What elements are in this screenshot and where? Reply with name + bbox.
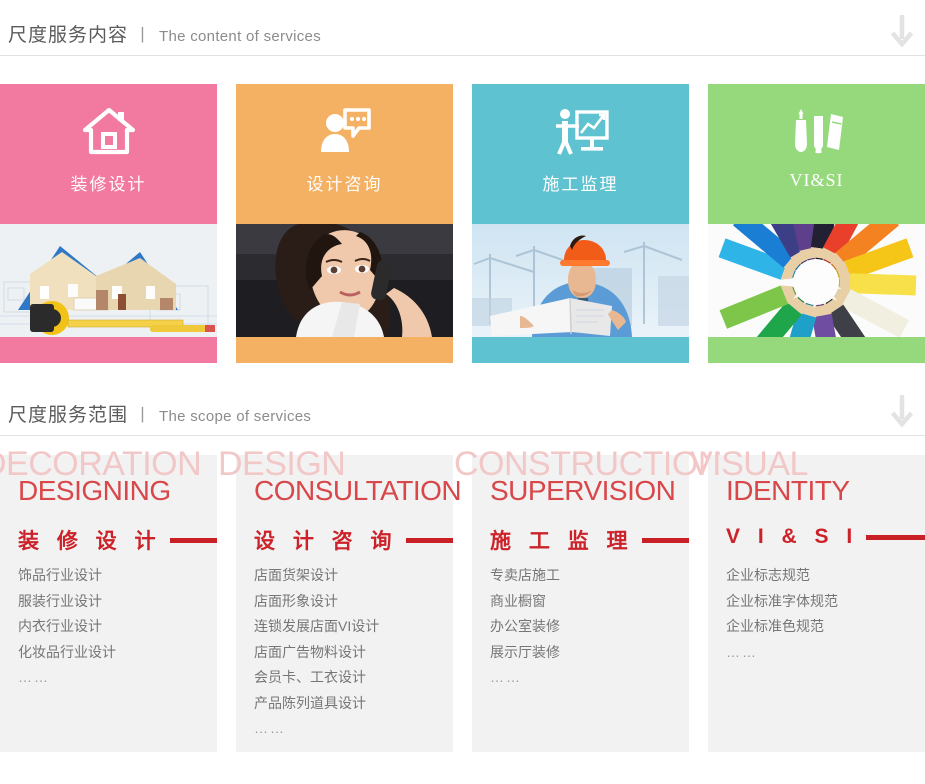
panel-title-cn: V I & S I [726, 525, 858, 549]
section-header-text-group: 尺度服务内容 丨 The content of services [8, 20, 887, 55]
panel-title-cn-row: 设 计 咨 询 [254, 525, 453, 555]
section-title-en: The content of services [159, 28, 321, 45]
panel-red-rule [406, 538, 453, 543]
card-label: 设计咨询 [307, 170, 383, 195]
card-header: 设计咨询 [236, 84, 453, 224]
list-item: 展示厅装修 [490, 640, 679, 666]
service-card-row: 装修设计 [0, 84, 925, 363]
scope-panel-consultation[interactable]: DESIGN CONSULTATION 设 计 咨 询 店面货架设计 店面形象设… [236, 455, 453, 752]
panel-item-list: 企业标志规范 企业标准字体规范 企业标准色规范 …… [726, 563, 915, 665]
service-card-decoration[interactable]: 装修设计 [0, 84, 217, 363]
panel-item-list: 饰品行业设计 服装行业设计 内衣行业设计 化妆品行业设计 …… [18, 563, 207, 691]
list-item-ellipsis: …… [490, 665, 679, 691]
list-item-ellipsis: …… [18, 665, 207, 691]
card-header: 装修设计 [0, 84, 217, 224]
list-item: 内衣行业设计 [18, 614, 207, 640]
person-chat-icon [317, 106, 373, 156]
section-title-cn: 尺度服务范围 [8, 400, 128, 427]
construction-worker-photo [472, 224, 689, 337]
scope-panel-designing[interactable]: DECORATION DESIGNING 装 修 设 计 饰品行业设计 服装行业… [0, 455, 217, 752]
panel-title-cn: 施 工 监 理 [490, 525, 634, 555]
list-item: 企业标准字体规范 [726, 589, 915, 615]
section-header-scope: 尺度服务范围 丨 The scope of services [0, 380, 925, 436]
download-arrow-icon[interactable] [887, 391, 917, 431]
pen-pencil-eraser-icon [789, 106, 845, 156]
card-label: VI&SI [790, 170, 844, 191]
panel-red-rule [642, 538, 689, 543]
section-header-content: 尺度服务内容 丨 The content of services [0, 0, 925, 56]
card-label: 施工监理 [543, 170, 619, 195]
section-header-text-group: 尺度服务范围 丨 The scope of services [8, 400, 887, 435]
scope-panel-row: DECORATION DESIGNING 装 修 设 计 饰品行业设计 服装行业… [0, 455, 925, 752]
colored-pencils-photo [708, 224, 925, 337]
list-item: 企业标准色规范 [726, 614, 915, 640]
presenter-chart-icon [553, 106, 609, 156]
section-title-separator: 丨 [134, 401, 151, 426]
house-model-blueprint-photo [0, 224, 217, 337]
service-card-supervision[interactable]: 施工监理 [472, 84, 689, 363]
download-arrow-icon[interactable] [887, 11, 917, 51]
panel-item-list: 专卖店施工 商业橱窗 办公室装修 展示厅装修 …… [490, 563, 679, 691]
list-item: 服装行业设计 [18, 589, 207, 615]
list-item-ellipsis: …… [254, 716, 443, 742]
list-item: 店面广告物料设计 [254, 640, 443, 666]
panel-title-cn: 装 修 设 计 [18, 525, 162, 555]
list-item: 办公室装修 [490, 614, 679, 640]
service-card-identity[interactable]: VI&SI [708, 84, 925, 363]
list-item: 专卖店施工 [490, 563, 679, 589]
scope-panel-supervision[interactable]: CONSTRUCTION SUPERVISION 施 工 监 理 专卖店施工 商… [472, 455, 689, 752]
list-item: 会员卡、工衣设计 [254, 665, 443, 691]
woman-on-phone-photo [236, 224, 453, 337]
list-item: 店面货架设计 [254, 563, 443, 589]
card-header: 施工监理 [472, 84, 689, 224]
list-item: 商业橱窗 [490, 589, 679, 615]
house-icon [81, 106, 137, 156]
list-item: 连锁发展店面VI设计 [254, 614, 443, 640]
panel-title-en: SUPERVISION [490, 475, 675, 507]
list-item: 化妆品行业设计 [18, 640, 207, 666]
page-root: 尺度服务内容 丨 The content of services 装修设计 [0, 0, 925, 784]
list-item: 企业标志规范 [726, 563, 915, 589]
list-item: 饰品行业设计 [18, 563, 207, 589]
scope-panel-identity[interactable]: VISUAL IDENTITY V I & S I 企业标志规范 企业标准字体规… [708, 455, 925, 752]
card-label: 装修设计 [71, 170, 147, 195]
service-card-consultation[interactable]: 设计咨询 [236, 84, 453, 363]
list-item: 店面形象设计 [254, 589, 443, 615]
card-header: VI&SI [708, 84, 925, 224]
panel-item-list: 店面货架设计 店面形象设计 连锁发展店面VI设计 店面广告物料设计 会员卡、工衣… [254, 563, 443, 742]
panel-title-en: DESIGNING [18, 475, 171, 507]
section-title-separator: 丨 [134, 21, 151, 46]
panel-red-rule [170, 538, 217, 543]
panel-title-en: IDENTITY [726, 475, 850, 507]
panel-title-cn-row: 装 修 设 计 [18, 525, 217, 555]
panel-title-en: CONSULTATION [254, 475, 461, 507]
panel-title-cn-row: V I & S I [726, 525, 925, 549]
panel-red-rule [866, 535, 925, 540]
panel-title-cn: 设 计 咨 询 [254, 525, 398, 555]
list-item-ellipsis: …… [726, 640, 915, 666]
section-title-cn: 尺度服务内容 [8, 20, 128, 47]
panel-title-cn-row: 施 工 监 理 [490, 525, 689, 555]
section-title-en: The scope of services [159, 408, 311, 425]
list-item: 产品陈列道具设计 [254, 691, 443, 717]
